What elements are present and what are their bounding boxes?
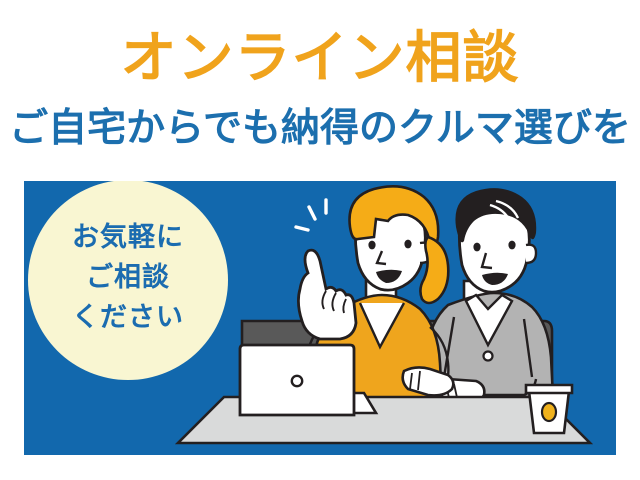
page-subtitle: ご自宅からでも納得のクルマ選びを: [0, 106, 640, 152]
woman-eye-left: [368, 241, 375, 250]
man-ear: [526, 245, 536, 263]
laptop-logo-icon: [292, 376, 302, 386]
woman-eye-right: [404, 240, 411, 249]
badge-text: お気軽に ご相談 ください: [28, 217, 228, 337]
man-eye-right: [508, 241, 515, 250]
coffee-cup: [526, 385, 572, 433]
header-block: オンライン相談 ご自宅からでも納得のクルマ選びを: [0, 0, 640, 172]
badge-line-1: お気軽に: [28, 217, 228, 257]
illustration-panel: お気軽に ご相談 ください: [24, 181, 616, 455]
badge-line-2: ご相談: [28, 257, 228, 297]
page-title: オンライン相談: [0, 26, 640, 90]
cup-lid: [526, 385, 572, 393]
cup-logo-icon: [542, 403, 556, 421]
badge-line-3: ください: [28, 297, 228, 337]
man-shirt-button: [484, 352, 493, 361]
man-eye-left: [473, 243, 480, 252]
promo-banner: オンライン相談 ご自宅からでも納得のクルマ選びを: [0, 0, 640, 480]
